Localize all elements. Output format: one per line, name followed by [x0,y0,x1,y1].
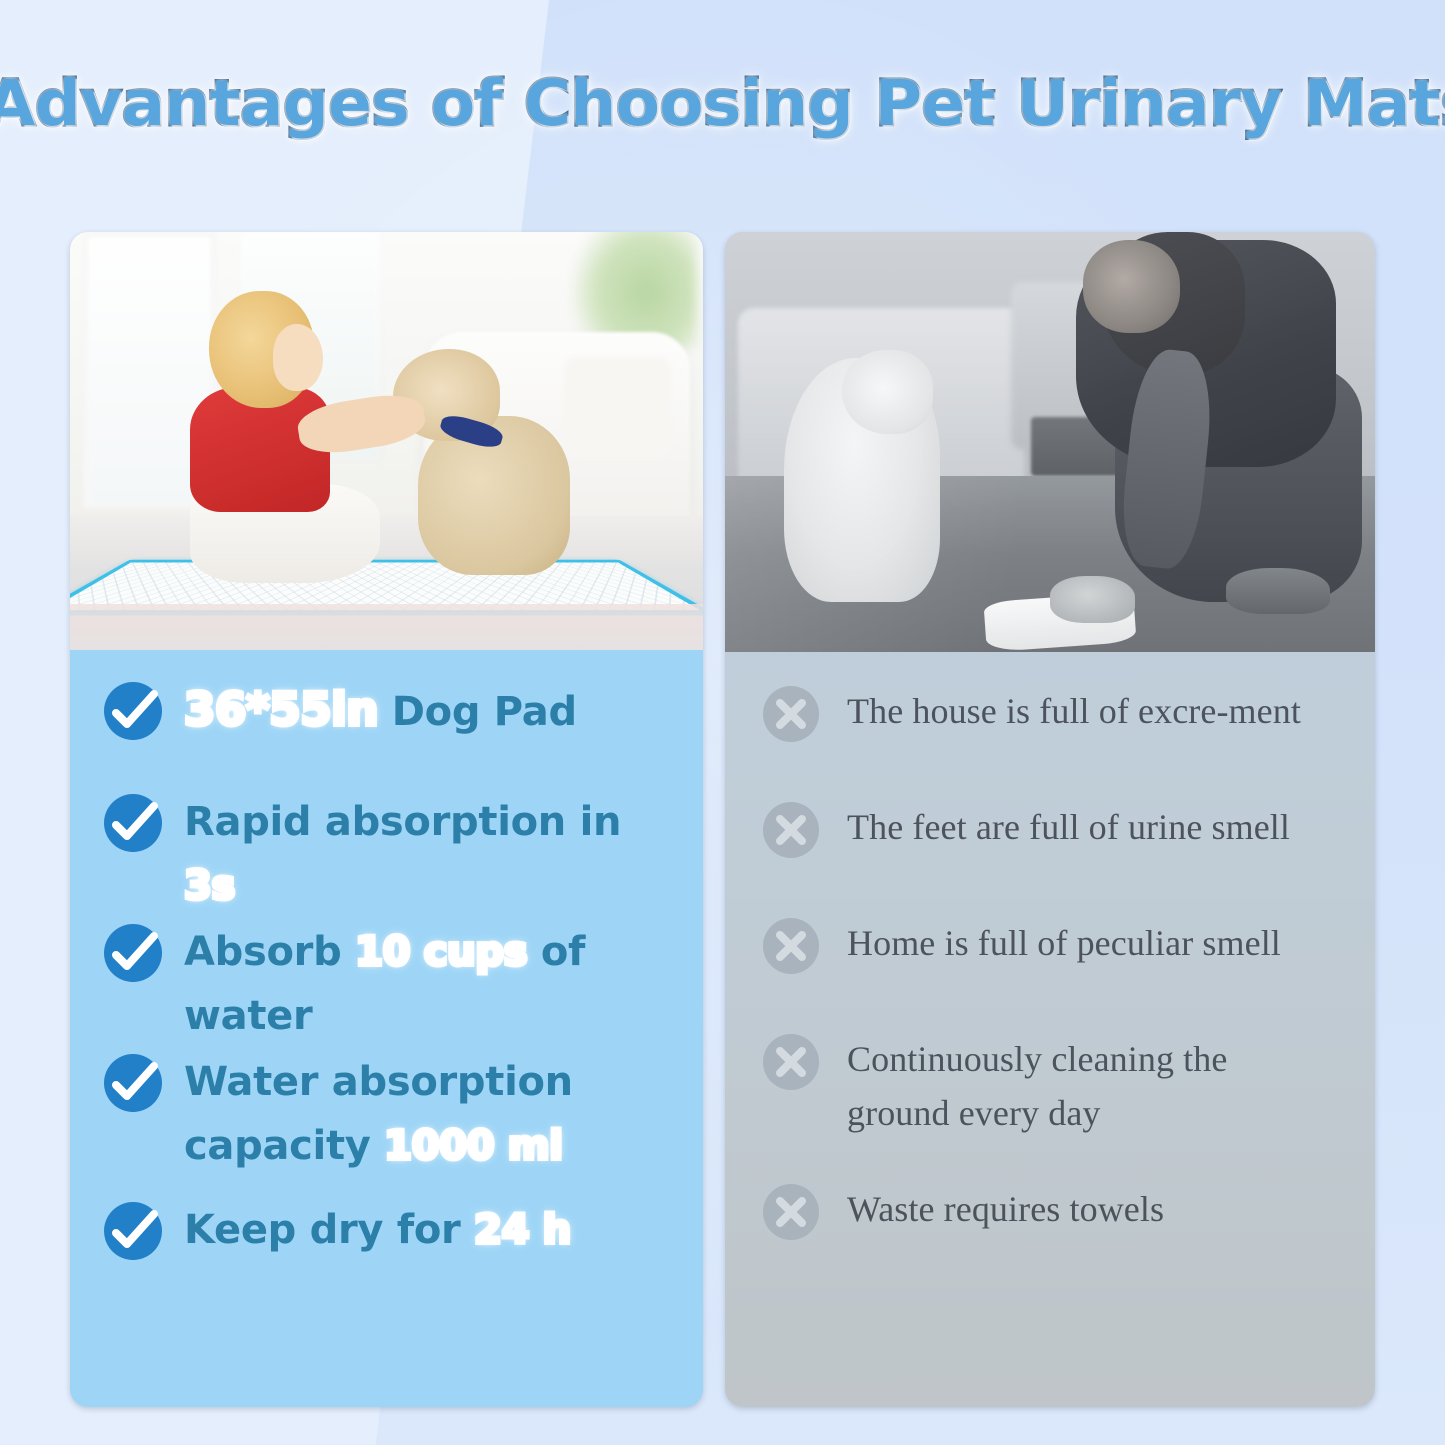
list-item-text: The house is full of excre-ment [847,678,1301,738]
list-item: The house is full of excre-ment [749,678,1351,794]
photo-woman-hand [1050,576,1135,622]
check-icon [104,682,162,740]
x-icon [763,1184,819,1240]
list-item-lead: Water absorption [184,1059,573,1105]
photo-child-with-puppy [70,232,703,650]
check-icon [104,1054,162,1112]
photo-woman-head [1083,240,1181,332]
list-item: 36*55in Dog Pad [94,676,679,788]
check-icon [104,924,162,982]
advantages-panel: 36*55in Dog Pad Rapid absorption in 3s [70,232,703,1407]
check-icon [104,794,162,852]
disadvantages-photo [725,232,1375,652]
list-item: Rapid absorption in 3s [94,788,679,918]
advantages-list: 36*55in Dog Pad Rapid absorption in 3s [70,650,703,1407]
list-item: Water absorptioncapacity 1000 ml [94,1048,679,1196]
x-icon [763,1034,819,1090]
photo-mat-texture [70,562,700,609]
photo-child-face [273,324,324,391]
value-dry-time: 24 h [474,1207,571,1253]
list-item-text: Water absorptioncapacity 1000 ml [184,1048,573,1178]
disadvantages-panel: The house is full of excre-ment The feet… [725,232,1375,1407]
list-item-text: Continuously cleaning theground every da… [847,1026,1227,1140]
value-absorption-time: 3s [184,863,235,909]
disadvantages-list: The house is full of excre-ment The feet… [725,652,1375,1407]
list-item-text: 36*55in Dog Pad [184,676,577,744]
list-item: The feet are full of urine smell [749,794,1351,910]
list-item-text: The feet are full of urine smell [847,794,1290,854]
x-icon [763,686,819,742]
list-item-lead: Keep dry for [184,1207,474,1253]
list-item-text: Rapid absorption in 3s [184,788,679,918]
page-title: Advantages of Choosing Pet Urinary Mats [0,72,1445,135]
page-title-text: Advantages of Choosing Pet Urinary Mats [0,67,1445,140]
list-item-text: Waste requires towels [847,1176,1164,1236]
list-item-lead2: capacity [184,1123,384,1169]
photo-woman-shoe [1226,568,1330,614]
photo-cushion [564,357,672,457]
list-item: Waste requires towels [749,1176,1351,1292]
infographic-canvas: Advantages of Choosing Pet Urinary Mats [0,0,1445,1445]
x-icon [763,802,819,858]
list-item-rest: Dog Pad [378,689,577,735]
list-item: Keep dry for 24 h [94,1196,679,1308]
list-item-text: Keep dry for 24 h [184,1196,571,1262]
list-item-lead: Rapid absorption in [184,799,621,845]
list-item-text: Absorb 10 cups of water [184,918,679,1048]
list-item-lead: Absorb [184,929,355,975]
list-item: Absorb 10 cups of water [94,918,679,1048]
value-pad-size: 36*55in [184,683,378,736]
check-icon [104,1202,162,1260]
list-item-text: Home is full of peculiar smell [847,910,1281,970]
advantages-photo [70,232,703,650]
list-item: Continuously cleaning theground every da… [749,1026,1351,1176]
x-icon [763,918,819,974]
photo-woman-cleaning-floor [725,232,1375,652]
list-item: Home is full of peculiar smell [749,910,1351,1026]
value-cups: 10 cups [355,929,527,975]
value-capacity: 1000 ml [384,1123,563,1169]
photo-floor-reflection [70,604,703,650]
photo-dog-head [842,350,933,434]
